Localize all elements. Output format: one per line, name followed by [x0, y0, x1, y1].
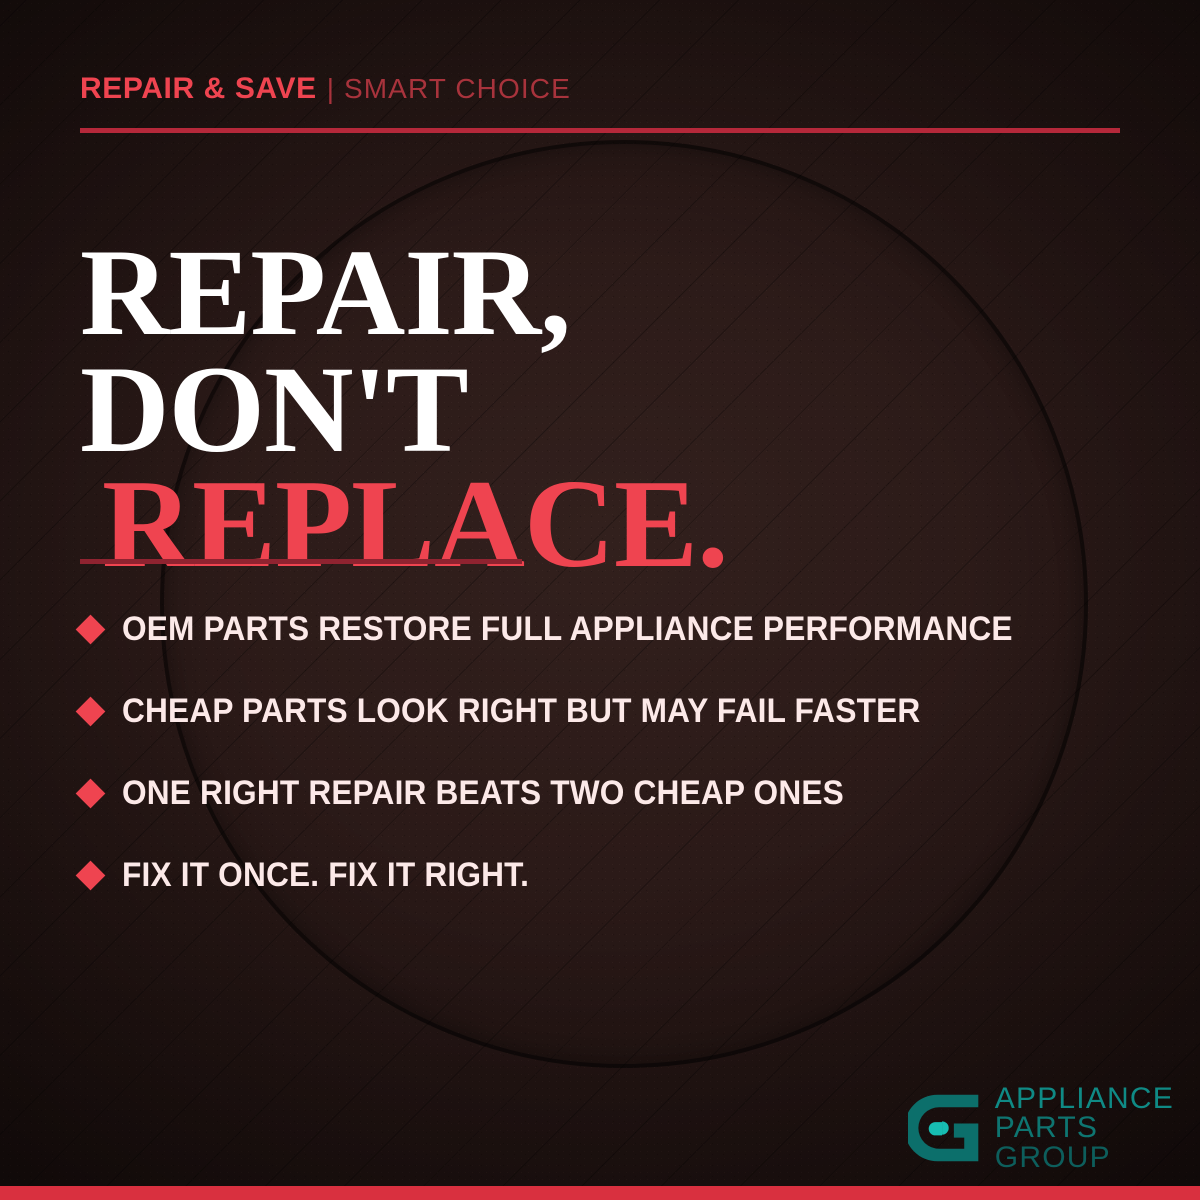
list-item: OEM PARTS RESTORE FULL APPLIANCE PERFORM…: [80, 588, 1150, 670]
list-item-label: CHEAP PARTS LOOK RIGHT BUT MAY FAIL FAST…: [122, 692, 920, 731]
bottom-accent-bar: [0, 1186, 1200, 1200]
brand-word-group: GROUP: [995, 1143, 1174, 1172]
headline-divider: [80, 559, 522, 564]
diamond-bullet-icon: [76, 778, 106, 808]
promo-poster: REPAIR & SAVE| SMART CHOICE REPAIR, DON'…: [0, 0, 1200, 1200]
diamond-bullet-icon: [76, 696, 106, 726]
eyebrow-banner: REPAIR & SAVE| SMART CHOICE: [80, 74, 571, 104]
list-item: ONE RIGHT REPAIR BEATS TWO CHEAP ONES: [80, 752, 1150, 834]
eyebrow-main-label: REPAIR & SAVE: [80, 72, 317, 105]
benefit-list: OEM PARTS RESTORE FULL APPLIANCE PERFORM…: [80, 588, 1150, 916]
list-item: CHEAP PARTS LOOK RIGHT BUT MAY FAIL FAST…: [80, 670, 1150, 752]
headline-line-1: REPAIR,: [80, 235, 728, 352]
list-item-label: OEM PARTS RESTORE FULL APPLIANCE PERFORM…: [122, 610, 1013, 649]
list-item-label: FIX IT ONCE. FIX IT RIGHT.: [122, 856, 529, 895]
headline-line-3: REPLACE.: [102, 466, 728, 584]
brand-word-parts: PARTS: [995, 1113, 1174, 1142]
headline-line-2: DON'T: [80, 352, 728, 469]
list-item-label: ONE RIGHT REPAIR BEATS TWO CHEAP ONES: [122, 774, 844, 813]
brand-logo: APPLIANCE PARTS GROUP: [908, 1084, 1174, 1172]
eyebrow-sub-label: | SMART CHOICE: [327, 73, 571, 104]
list-item: FIX IT ONCE. FIX IT RIGHT.: [80, 834, 1150, 916]
poster-content: REPAIR & SAVE| SMART CHOICE REPAIR, DON'…: [0, 0, 1200, 1200]
g-monogram-icon: [908, 1091, 982, 1165]
diamond-bullet-icon: [76, 860, 106, 890]
header-divider: [80, 128, 1120, 133]
brand-logo-wordmark: APPLIANCE PARTS GROUP: [995, 1084, 1174, 1172]
brand-word-appliance: APPLIANCE: [995, 1084, 1174, 1113]
diamond-bullet-icon: [76, 614, 106, 644]
page-title: REPAIR, DON'T REPLACE.: [80, 235, 728, 585]
